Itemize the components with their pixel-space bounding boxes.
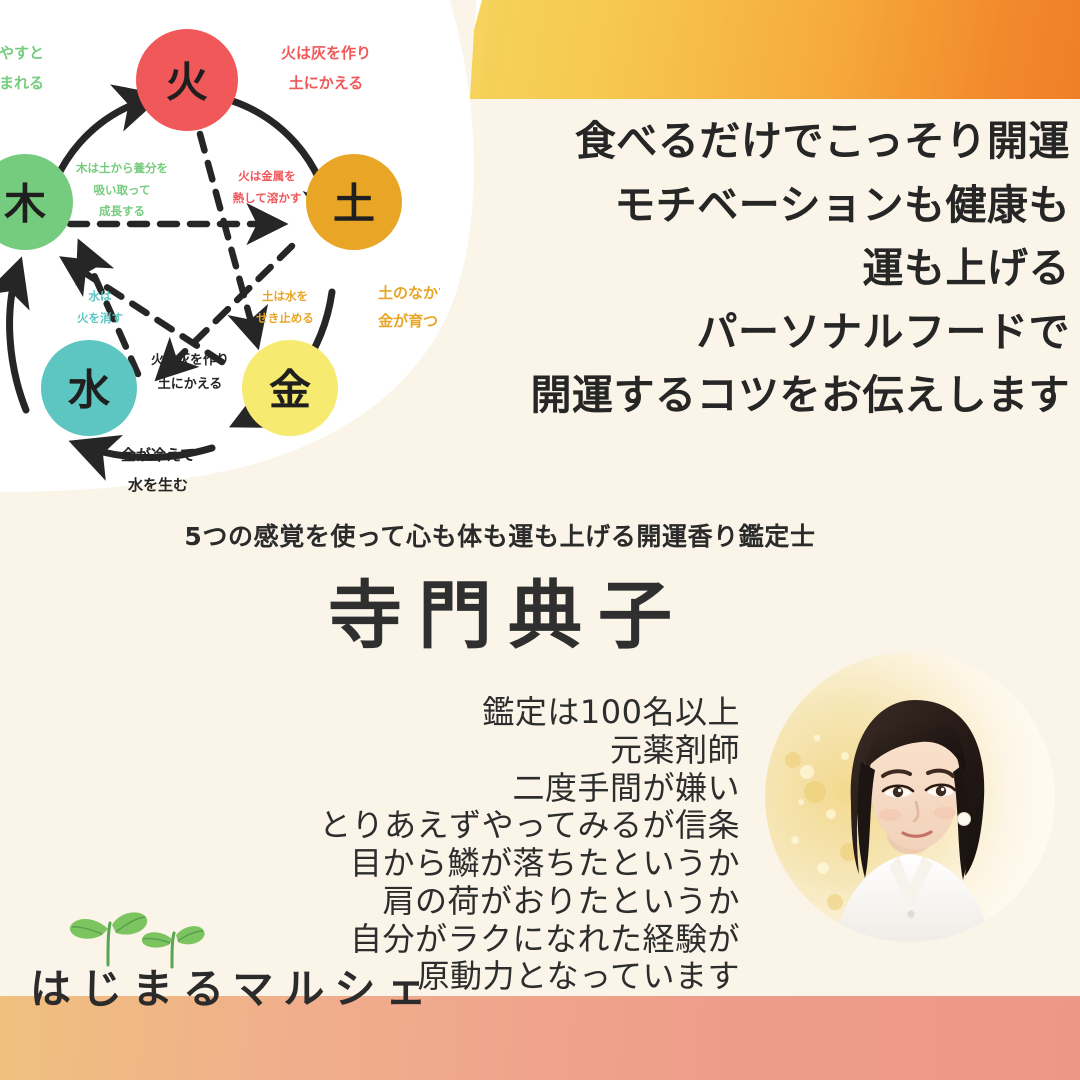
svg-text:火: 火 — [166, 58, 208, 107]
svg-text:土にかえる: 土にかえる — [289, 74, 364, 92]
svg-text:水を生む: 水を生む — [127, 476, 188, 494]
svg-text:土: 土 — [333, 180, 375, 229]
svg-text:水: 水 — [67, 366, 111, 415]
svg-text:木は土から養分を: 木は土から養分を — [75, 161, 168, 175]
profile-bio-block: 鑑定は100名以上 元薬剤師 二度手間が嫌い とりあえずやってみるが信条 目から… — [250, 694, 740, 996]
bio-line-3: 二度手間が嫌い — [250, 770, 740, 808]
svg-text:せき止める: せき止める — [256, 311, 314, 325]
bio-line-1: 鑑定は100名以上 — [250, 694, 740, 732]
poster-canvas: 火 土 金 水 木 木を燃やすと 火が生まれる 火は灰を作り 土にかえる 土のな… — [0, 0, 1080, 1080]
header-orange-bar — [470, 0, 1080, 99]
svg-text:金が育つ: 金が育つ — [378, 312, 438, 330]
svg-text:土にかえる: 土にかえる — [158, 376, 223, 392]
svg-text:火を消す: 火を消す — [77, 311, 123, 325]
profile-portrait-photo — [765, 652, 1055, 942]
svg-text:土のなかで: 土のなかで — [378, 284, 440, 302]
svg-text:熱して溶かす: 熱して溶かす — [233, 191, 302, 205]
profile-name: 寺門典子 — [0, 556, 1000, 663]
svg-text:水は: 水は — [88, 289, 112, 303]
svg-text:金が冷えて: 金が冷えて — [121, 446, 195, 464]
svg-text:火は灰を作り: 火は灰を作り — [151, 352, 229, 368]
svg-text:吸い取って: 吸い取って — [94, 183, 151, 197]
brand-logo[interactable]: はじまるマルシェ — [30, 955, 436, 1015]
headline-line-3: 運も上げる — [470, 237, 1070, 301]
svg-text:火が生まれる: 火が生まれる — [0, 74, 44, 92]
bio-line-6: 肩の荷がおりたというか — [250, 883, 740, 921]
headline-line-1: 食べるだけでこっそり開運 — [470, 110, 1070, 174]
svg-text:木: 木 — [4, 180, 46, 229]
svg-text:成長する: 成長する — [99, 204, 145, 218]
svg-text:木を燃やすと: 木を燃やすと — [0, 44, 44, 62]
five-elements-diagram: 火 土 金 水 木 木を燃やすと 火が生まれる 火は灰を作り 土にかえる 土のな… — [0, 10, 440, 510]
svg-text:金: 金 — [269, 366, 311, 415]
svg-text:土は水を: 土は水を — [262, 289, 308, 303]
headline-line-5: 開運するコツをお伝えします — [470, 364, 1070, 428]
headline-line-2: モチベーションも健康も — [470, 174, 1070, 238]
bio-line-2: 元薬剤師 — [250, 732, 740, 770]
headline-line-4: パーソナルフードで — [470, 301, 1070, 365]
bio-line-7: 自分がラクになれた経験が — [250, 921, 740, 959]
headline-block: 食べるだけでこっそり開運 モチベーションも健康も 運も上げる パーソナルフードで… — [470, 110, 1070, 428]
svg-text:火は金属を: 火は金属を — [238, 169, 296, 183]
sprout-icon — [64, 907, 244, 969]
bio-line-4: とりあえずやってみるが信条 — [250, 807, 740, 845]
svg-text:火は灰を作り: 火は灰を作り — [281, 44, 371, 62]
bio-line-5: 目から鱗が落ちたというか — [250, 845, 740, 883]
profile-tagline: 5つの感覚を使って心も体も運も上げる開運香り鑑定士 — [0, 517, 1000, 553]
